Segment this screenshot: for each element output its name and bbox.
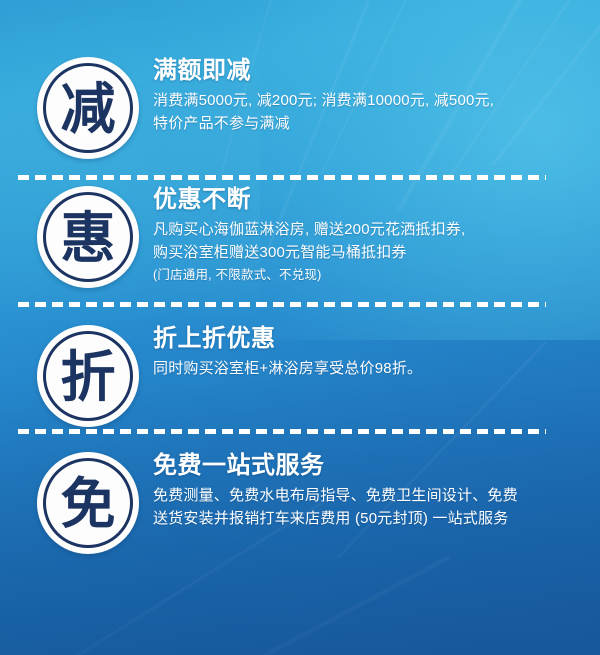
promo-detail-2-line-2: 购买浴室柜赠送300元智能马桶抵扣券 <box>153 242 582 265</box>
promo-section-2: 惠 优惠不断 凡购买心海伽蓝淋浴房, 赠送200元花洒抵扣券, 购买浴室柜赠送3… <box>0 186 600 288</box>
promo-section-4: 免 免费一站式服务 免费测量、免费水电布局指导、免费卫生间设计、免费 送货安装并… <box>0 452 600 554</box>
promo-heading-1: 满额即减 <box>153 57 582 85</box>
discount-badge-mian: 免 <box>37 452 139 554</box>
promo-detail-4-line-1: 免费测量、免费水电布局指导、免费卫生间设计、免费 <box>153 485 582 508</box>
promo-text-block-1: 满额即减 消费满5000元, 减200元; 消费满10000元, 减500元, … <box>153 57 600 136</box>
promo-note-2: (门店通用, 不限款式、不兑现) <box>153 266 582 285</box>
promo-heading-4: 免费一站式服务 <box>153 452 582 480</box>
promo-poster: 减 满额即减 消费满5000元, 减200元; 消费满10000元, 减500元… <box>0 0 600 655</box>
promo-detail-1-line-1: 消费满5000元, 减200元; 消费满10000元, 减500元, <box>153 90 582 113</box>
promo-text-block-4: 免费一站式服务 免费测量、免费水电布局指导、免费卫生间设计、免费 送货安装并报销… <box>153 452 600 531</box>
badge-glyph-icon: 惠 <box>60 211 115 266</box>
discount-badge-zhe: 折 <box>37 325 139 427</box>
background-glow-top-right <box>170 0 600 340</box>
section-divider-3 <box>18 429 546 434</box>
promo-detail-2-line-1: 凡购买心海伽蓝淋浴房, 赠送200元花洒抵扣券, <box>153 219 582 242</box>
badge-glyph-icon: 折 <box>60 350 115 405</box>
promo-detail-1-line-2: 特价产品不参与满减 <box>153 113 582 136</box>
promo-heading-2: 优惠不断 <box>153 186 582 214</box>
discount-badge-jian: 减 <box>37 57 139 159</box>
section-divider-2 <box>18 302 546 307</box>
promo-section-3: 折 折上折优惠 同时购买浴室柜+淋浴房享受总价98折。 <box>0 325 600 427</box>
promo-text-block-3: 折上折优惠 同时购买浴室柜+淋浴房享受总价98折。 <box>153 325 600 381</box>
discount-badge-hui: 惠 <box>37 186 139 288</box>
promo-section-1: 减 满额即减 消费满5000元, 减200元; 消费满10000元, 减500元… <box>0 57 600 159</box>
badge-glyph-icon: 减 <box>60 82 115 137</box>
promo-heading-3: 折上折优惠 <box>153 325 582 353</box>
promo-detail-3-line-1: 同时购买浴室柜+淋浴房享受总价98折。 <box>153 358 582 381</box>
promo-text-block-2: 优惠不断 凡购买心海伽蓝淋浴房, 赠送200元花洒抵扣券, 购买浴室柜赠送300… <box>153 186 600 285</box>
badge-glyph-icon: 免 <box>60 477 115 532</box>
section-divider-1 <box>18 175 546 180</box>
promo-detail-4-line-2: 送货安装并报销打车来店费用 (50元封顶) 一站式服务 <box>153 508 582 531</box>
